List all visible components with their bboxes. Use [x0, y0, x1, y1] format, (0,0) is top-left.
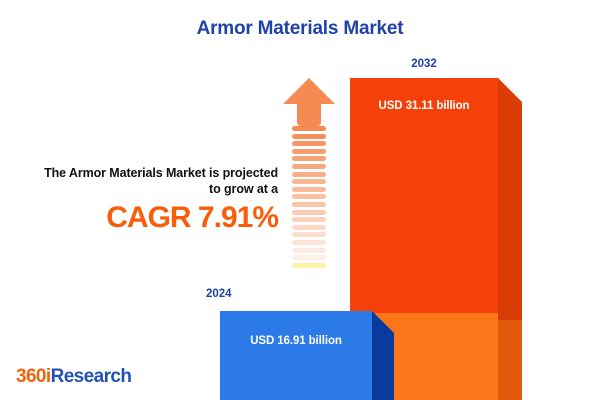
bar-year-label-2024: 2024 [206, 288, 268, 300]
bar-2032-front-upper [350, 78, 498, 313]
bar-2024-front-face [220, 311, 372, 400]
arrow-stripe [292, 232, 326, 237]
infographic-canvas: Armor Materials Market The Armor Materia… [0, 0, 600, 400]
brand-logo: 360iResearch [16, 366, 131, 388]
up-arrow-icon [283, 78, 335, 290]
arrow-stripe [292, 210, 326, 215]
arrow-stripe [292, 225, 326, 230]
arrow-stripe [292, 202, 326, 207]
arrow-stripe [292, 164, 326, 169]
arrow-stripe [292, 285, 326, 290]
arrow-stripe [292, 248, 326, 253]
arrow-stripe [292, 126, 326, 131]
arrow-stripe [292, 149, 326, 154]
arrow-stripe [292, 278, 326, 283]
arrow-stripe [292, 187, 326, 192]
caption-block: The Armor Materials Market is projected … [36, 165, 278, 234]
bar-2032-side-face-lower [498, 320, 522, 400]
arrow-stripe [292, 255, 326, 260]
bar-value-label-2024: USD 16.91 billion [220, 335, 372, 347]
arrow-stripes [292, 126, 326, 290]
arrow-head-icon [283, 78, 335, 126]
arrow-stripe [292, 179, 326, 184]
arrow-stripe [292, 217, 326, 222]
logo-text-360i: 360i [16, 366, 51, 387]
logo-text-research: Research [51, 366, 132, 387]
caption-lead-text: The Armor Materials Market is projected … [36, 165, 278, 197]
arrow-stripe [292, 194, 326, 199]
arrow-stripe [292, 141, 326, 146]
bar-value-label-2032: USD 31.11 billion [350, 100, 498, 112]
arrow-stripe [292, 263, 326, 268]
bar-year-label-2032: 2032 [350, 58, 498, 70]
arrow-stripe [292, 270, 326, 275]
arrow-stripe [292, 172, 326, 177]
cagr-value: CAGR 7.91% [36, 202, 278, 234]
arrow-stripe [292, 240, 326, 245]
bar-2024: USD 16.91 billion [220, 311, 394, 400]
arrow-stripe [292, 156, 326, 161]
bar-2024-side-face [372, 311, 394, 400]
page-title: Armor Materials Market [0, 18, 600, 40]
arrow-stripe [292, 134, 326, 139]
